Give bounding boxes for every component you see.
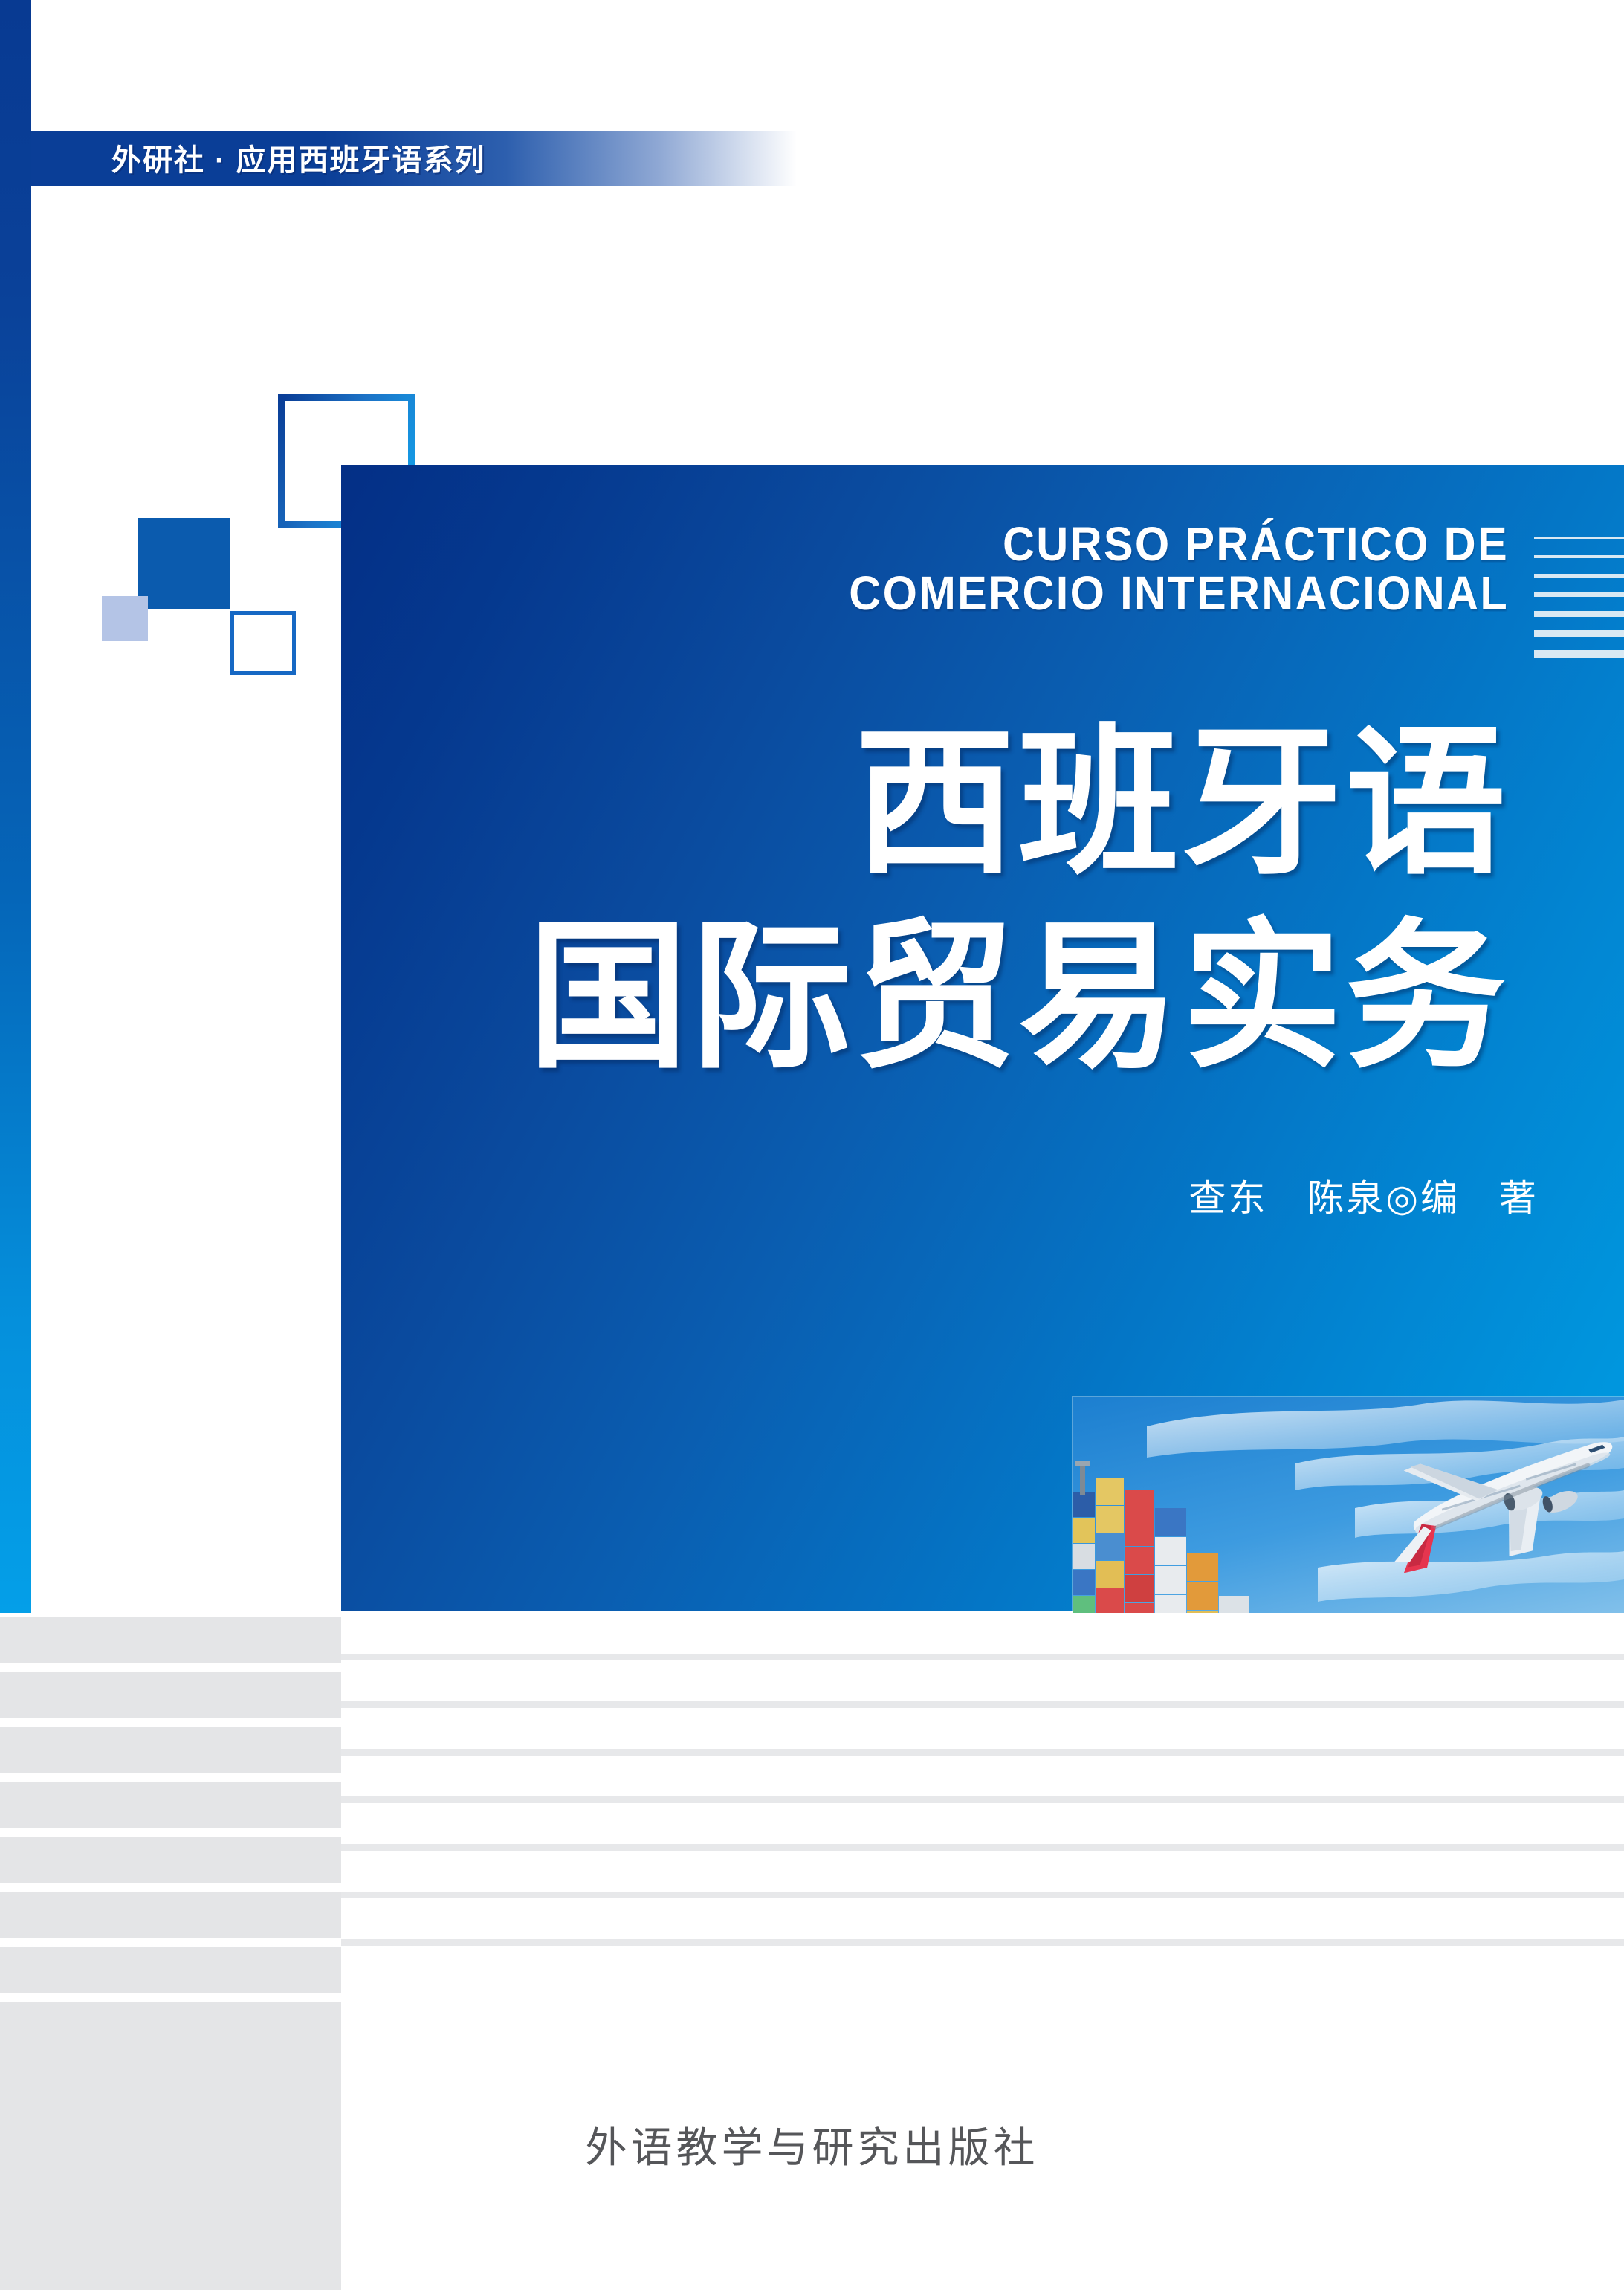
stripe-bar [0, 1727, 341, 1773]
stripe-bar [0, 1617, 341, 1663]
decorative-rule-stack [1534, 537, 1624, 663]
decorative-square-outline-small [230, 611, 296, 675]
chinese-title-line-1: 西班牙语 [491, 706, 1509, 900]
rule-line [1534, 630, 1624, 637]
stripe-gap [341, 1851, 1624, 1892]
book-cover: 外研社 · 应用西班牙语系列 CURSO PRÁCTICO DE COMERCI… [0, 0, 1624, 2290]
rule-line [1534, 537, 1624, 539]
chinese-title: 西班牙语 国际贸易实务 [491, 706, 1509, 1095]
stripe-gap [341, 1803, 1624, 1844]
stripe-bar [0, 1782, 341, 1828]
author-line: 查东 陈泉◎编 著 [743, 1168, 1539, 1222]
bottom-stripes-left [0, 1613, 341, 2290]
stripe-bar [0, 1892, 341, 1938]
stripe-bar [0, 1947, 341, 1993]
publisher-name: 外语教学与研究出版社 [0, 2115, 1624, 2175]
stripe-rule [341, 1654, 1624, 1660]
stripe-gap [341, 1613, 1624, 1654]
rule-line [1534, 592, 1624, 597]
stripe-rule [341, 1892, 1624, 1898]
rule-line [1534, 650, 1624, 658]
rule-line [1534, 574, 1624, 578]
stripe-gap [341, 1756, 1624, 1796]
spanish-title: CURSO PRÁCTICO DE COMERCIO INTERNACIONAL [589, 520, 1509, 618]
stripe-rule [341, 1796, 1624, 1803]
stripe-rule [341, 1701, 1624, 1708]
stripe-rule [341, 1844, 1624, 1851]
decorative-square-light [102, 596, 148, 641]
rule-line [1534, 555, 1624, 558]
stripe-gap [341, 1660, 1624, 1701]
spine-strip [0, 0, 31, 1613]
spanish-title-line-1: CURSO PRÁCTICO DE [589, 520, 1509, 569]
bottom-stripe-band [0, 1613, 1624, 2290]
stripe-gap [341, 1898, 1624, 1939]
decorative-square-solid [138, 518, 230, 609]
stripe-gap [341, 1708, 1624, 1749]
stripe-bar [0, 1837, 341, 1883]
stripe-bar [0, 1672, 341, 1718]
stripe-rule [341, 1939, 1624, 1946]
series-banner-label: 外研社 · 应用西班牙语系列 [111, 136, 486, 179]
rule-line [1534, 611, 1624, 617]
bottom-stripes-right [341, 1613, 1624, 2290]
stripe-rule [341, 1749, 1624, 1756]
chinese-title-line-2: 国际贸易实务 [491, 900, 1509, 1094]
spanish-title-line-2: COMERCIO INTERNACIONAL [589, 569, 1509, 618]
